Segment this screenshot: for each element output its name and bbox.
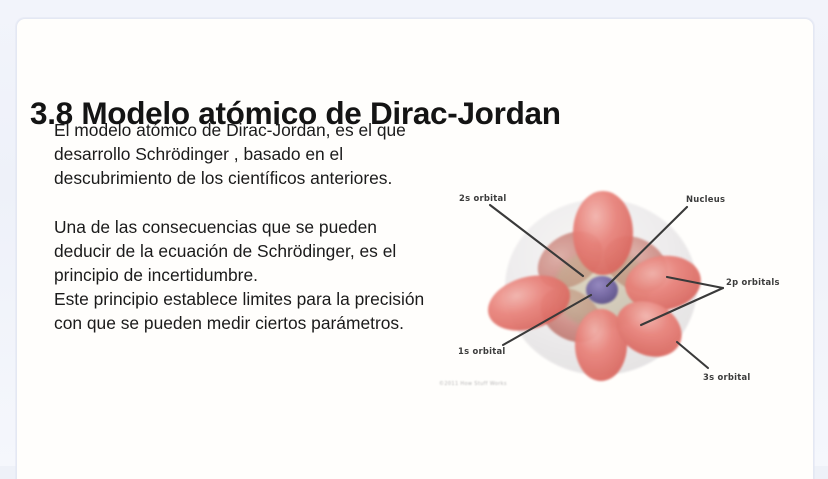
atomic-orbital-diagram: 2s orbital Nucleus 2p orbitals 1s orbita… [431,169,813,414]
label-1s-orbital: 1s orbital [458,346,506,356]
atom-illustration [431,169,813,414]
label-nucleus: Nucleus [686,194,725,204]
body-paragraph-3: Este principio establece limites para la… [54,287,434,335]
label-3s-orbital: 3s orbital [703,372,751,382]
label-2s-orbital: 2s orbital [459,193,507,203]
slide-body-text: El modelo atómico de Dirac-Jordan, es el… [54,118,434,336]
slide-card: 3.8 Modelo atómico de Dirac-Jordan El mo… [16,18,814,479]
figure-credit: ©2011 How Stuff Works [439,381,507,387]
label-2p-orbitals: 2p orbitals [726,277,780,287]
body-paragraph-2: Una de las consecuencias que se pueden d… [54,215,434,288]
body-paragraph-1: El modelo atómico de Dirac-Jordan, es el… [54,118,434,191]
